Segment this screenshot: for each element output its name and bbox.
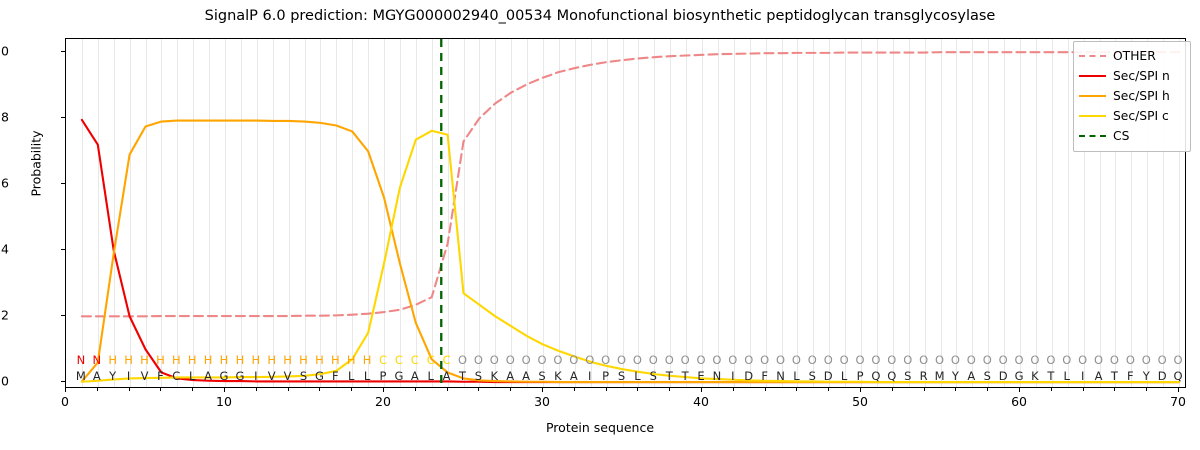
- region-annotation-track: NNHHHHHHHHHHHHHHHHHCCCCCOOOOOOOOOOOOOOOO…: [65, 353, 1186, 369]
- x-tick-mark: [542, 388, 543, 392]
- x-tick-mark-minor: [1146, 388, 1147, 391]
- residue-label: A: [522, 369, 530, 383]
- residue-label: L: [189, 369, 195, 383]
- x-tick-mark-minor: [256, 388, 257, 391]
- region-label: O: [553, 353, 562, 367]
- region-label: O: [1094, 353, 1103, 367]
- residue-label: K: [491, 369, 499, 383]
- x-tick-mark: [383, 388, 384, 392]
- residue-label: Y: [952, 369, 959, 383]
- region-label: O: [887, 353, 896, 367]
- y-tick-label: 0.0: [0, 374, 9, 389]
- residue-label: S: [618, 369, 625, 383]
- legend-label: Sec/SPI h: [1113, 89, 1170, 103]
- residue-label: E: [697, 369, 704, 383]
- residue-label: A: [1095, 369, 1103, 383]
- residue-label: A: [93, 369, 101, 383]
- x-tick-mark-minor: [415, 388, 416, 391]
- residue-label: A: [204, 369, 212, 383]
- x-tick-mark-minor: [192, 388, 193, 391]
- region-label: O: [983, 353, 992, 367]
- residue-label: D: [744, 369, 753, 383]
- x-tick-mark: [65, 388, 66, 392]
- residue-label: K: [554, 369, 562, 383]
- region-label: H: [299, 353, 308, 367]
- x-tick-label: 20: [375, 394, 391, 409]
- x-tick-label: 10: [216, 394, 232, 409]
- region-label: O: [474, 353, 483, 367]
- residue-label: T: [1047, 369, 1054, 383]
- region-label: O: [1174, 353, 1183, 367]
- x-tick-label: 40: [693, 394, 709, 409]
- x-tick-label: 50: [852, 394, 868, 409]
- residue-label: T: [1111, 369, 1118, 383]
- x-tick-mark: [224, 388, 225, 392]
- region-label: O: [506, 353, 515, 367]
- x-tick-mark-minor: [765, 388, 766, 391]
- region-label: O: [1110, 353, 1119, 367]
- residue-label: N: [713, 369, 722, 383]
- region-label: O: [1015, 353, 1024, 367]
- residue-label: S: [475, 369, 482, 383]
- residue-label: S: [650, 369, 657, 383]
- region-label: O: [1142, 353, 1151, 367]
- residue-label: M: [76, 369, 86, 383]
- legend-item[interactable]: Sec/SPI n: [1079, 66, 1185, 86]
- region-label: O: [601, 353, 610, 367]
- residue-label: D: [1158, 369, 1167, 383]
- curve-sec-spi-h: [82, 121, 1179, 383]
- region-label: O: [744, 353, 753, 367]
- residue-label: I: [254, 369, 257, 383]
- region-label: O: [490, 353, 499, 367]
- region-label: O: [840, 353, 849, 367]
- region-label: H: [363, 353, 372, 367]
- residue-label: A: [967, 369, 975, 383]
- legend-swatch-icon: [1079, 95, 1106, 97]
- residue-label: L: [841, 369, 847, 383]
- x-tick-mark-minor: [447, 388, 448, 391]
- y-tick-mark: [61, 183, 65, 184]
- residue-label: L: [793, 369, 799, 383]
- legend-swatch-icon: [1079, 55, 1106, 57]
- y-tick-label: 0.2: [0, 308, 9, 323]
- region-label: O: [808, 353, 817, 367]
- residue-label: Q: [871, 369, 880, 383]
- x-tick-mark-minor: [97, 388, 98, 391]
- residue-label: I: [1081, 369, 1084, 383]
- legend-swatch-icon: [1079, 75, 1106, 77]
- region-label: O: [1078, 353, 1087, 367]
- y-tick-mark: [61, 51, 65, 52]
- residue-label: A: [411, 369, 419, 383]
- x-tick-mark-minor: [987, 388, 988, 391]
- region-label: O: [967, 353, 976, 367]
- residue-label: L: [364, 369, 370, 383]
- residue-label: F: [1127, 369, 1134, 383]
- residue-label: G: [394, 369, 403, 383]
- x-tick-mark-minor: [288, 388, 289, 391]
- y-tick-mark: [61, 249, 65, 250]
- region-label: O: [1158, 353, 1167, 367]
- region-label: H: [140, 353, 149, 367]
- region-label: O: [681, 353, 690, 367]
- x-tick-mark-minor: [733, 388, 734, 391]
- region-label: O: [1046, 353, 1055, 367]
- y-tick-mark: [61, 315, 65, 316]
- x-tick-mark-minor: [129, 388, 130, 391]
- residue-label: Y: [1143, 369, 1150, 383]
- residue-label: G: [1015, 369, 1024, 383]
- y-tick-label: 0.4: [0, 242, 9, 257]
- x-tick-mark-minor: [669, 388, 670, 391]
- region-label: C: [427, 353, 435, 367]
- legend-label: Sec/SPI c: [1113, 109, 1169, 123]
- x-tick-mark-minor: [637, 388, 638, 391]
- y-tick-mark: [61, 117, 65, 118]
- region-label: C: [411, 353, 419, 367]
- residue-label: Q: [887, 369, 896, 383]
- curve-sec-spi-c: [82, 131, 1179, 382]
- x-tick-mark-minor: [1083, 388, 1084, 391]
- x-tick-mark-minor: [892, 388, 893, 391]
- x-tick-mark: [860, 388, 861, 392]
- residue-label: P: [857, 369, 864, 383]
- x-tick-mark-minor: [574, 388, 575, 391]
- region-label: O: [696, 353, 705, 367]
- residue-label: D: [824, 369, 833, 383]
- residue-label: A: [443, 369, 451, 383]
- x-tick-label: 30: [534, 394, 550, 409]
- residue-label: T: [682, 369, 689, 383]
- x-tick-mark-minor: [160, 388, 161, 391]
- legend-item[interactable]: Sec/SPI h: [1079, 86, 1185, 106]
- region-label: H: [204, 353, 213, 367]
- curve-sec-spi-n: [82, 120, 1179, 382]
- residue-label: T: [666, 369, 673, 383]
- region-label: O: [903, 353, 912, 367]
- region-label: H: [315, 353, 324, 367]
- region-label: O: [919, 353, 928, 367]
- region-label: N: [92, 353, 101, 367]
- y-tick-label: 1.0: [0, 44, 9, 59]
- residue-label: V: [141, 369, 149, 383]
- region-label: O: [585, 353, 594, 367]
- residue-label: S: [538, 369, 545, 383]
- region-label: H: [124, 353, 133, 367]
- residue-label: K: [1031, 369, 1039, 383]
- region-label: O: [999, 353, 1008, 367]
- x-tick-mark-minor: [606, 388, 607, 391]
- legend-swatch-icon: [1079, 115, 1106, 117]
- region-label: C: [395, 353, 403, 367]
- protein-sequence-track: MAYIVFCLAGGIVVSGFLLPGALATSKAASKAIPSLSTTE…: [65, 369, 1186, 385]
- residue-label: V: [268, 369, 276, 383]
- residue-label: L: [427, 369, 433, 383]
- residue-label: F: [157, 369, 164, 383]
- residue-label: S: [984, 369, 991, 383]
- region-label: O: [569, 353, 578, 367]
- region-label: O: [951, 353, 960, 367]
- plot-area: [65, 38, 1186, 388]
- residue-label: L: [634, 369, 640, 383]
- region-label: O: [1030, 353, 1039, 367]
- residue-label: M: [935, 369, 945, 383]
- residue-label: T: [459, 369, 466, 383]
- legend-label: OTHER: [1113, 49, 1156, 63]
- x-tick-mark-minor: [796, 388, 797, 391]
- region-label: O: [760, 353, 769, 367]
- region-label: H: [236, 353, 245, 367]
- x-tick-label: 60: [1011, 394, 1027, 409]
- x-tick-mark-minor: [351, 388, 352, 391]
- region-label: O: [633, 353, 642, 367]
- region-label: O: [1126, 353, 1135, 367]
- x-tick-mark-minor: [478, 388, 479, 391]
- residue-label: S: [809, 369, 816, 383]
- x-tick-mark-minor: [1051, 388, 1052, 391]
- residue-label: F: [332, 369, 339, 383]
- region-label: O: [728, 353, 737, 367]
- curve-layer: [66, 39, 1185, 387]
- x-tick-mark-minor: [510, 388, 511, 391]
- x-tick-mark-minor: [828, 388, 829, 391]
- residue-label: V: [284, 369, 292, 383]
- region-label: O: [712, 353, 721, 367]
- region-label: O: [776, 353, 785, 367]
- legend-label: CS: [1113, 129, 1129, 143]
- residue-label: G: [235, 369, 244, 383]
- region-label: H: [347, 353, 356, 367]
- region-label: O: [792, 353, 801, 367]
- residue-label: P: [380, 369, 387, 383]
- region-label: H: [156, 353, 165, 367]
- residue-label: G: [315, 369, 324, 383]
- region-label: O: [1062, 353, 1071, 367]
- region-label: O: [522, 353, 531, 367]
- y-tick-label: 0.6: [0, 176, 9, 191]
- x-tick-mark-minor: [955, 388, 956, 391]
- x-tick-mark-minor: [924, 388, 925, 391]
- residue-label: C: [172, 369, 180, 383]
- residue-label: Y: [109, 369, 116, 383]
- region-label: C: [443, 353, 451, 367]
- region-label: H: [172, 353, 181, 367]
- region-label: O: [665, 353, 674, 367]
- x-tick-mark: [1019, 388, 1020, 392]
- region-label: H: [188, 353, 197, 367]
- residue-label: I: [731, 369, 734, 383]
- x-tick-mark-minor: [319, 388, 320, 391]
- x-tick-label: 70: [1170, 394, 1186, 409]
- y-tick-label: 0.8: [0, 110, 9, 125]
- region-label: O: [856, 353, 865, 367]
- signalp-chart-figure: SignalP 6.0 prediction: MGYG000002940_00…: [0, 0, 1200, 450]
- region-label: H: [331, 353, 340, 367]
- x-tick-mark-minor: [1114, 388, 1115, 391]
- chart-legend[interactable]: OTHERSec/SPI nSec/SPI hSec/SPI cCS: [1073, 41, 1191, 152]
- x-tick-mark: [1178, 388, 1179, 392]
- residue-label: Q: [1174, 369, 1183, 383]
- legend-swatch-icon: [1079, 135, 1106, 137]
- residue-label: S: [904, 369, 911, 383]
- residue-label: A: [506, 369, 514, 383]
- residue-label: L: [1064, 369, 1070, 383]
- x-tick-mark: [701, 388, 702, 392]
- legend-item[interactable]: CS: [1079, 126, 1185, 146]
- x-tick-label: 0: [61, 394, 69, 409]
- region-label: H: [251, 353, 260, 367]
- residue-label: L: [348, 369, 354, 383]
- residue-label: S: [300, 369, 307, 383]
- residue-label: D: [999, 369, 1008, 383]
- residue-label: A: [570, 369, 578, 383]
- residue-label: G: [220, 369, 229, 383]
- region-label: O: [935, 353, 944, 367]
- legend-item[interactable]: Sec/SPI c: [1079, 106, 1185, 126]
- residue-label: I: [127, 369, 130, 383]
- chart-title: SignalP 6.0 prediction: MGYG000002940_00…: [0, 8, 1200, 24]
- region-label: O: [617, 353, 626, 367]
- residue-label: F: [761, 369, 768, 383]
- region-label: O: [649, 353, 658, 367]
- region-label: H: [283, 353, 292, 367]
- region-label: C: [379, 353, 387, 367]
- legend-item[interactable]: OTHER: [1079, 46, 1185, 66]
- region-label: H: [108, 353, 117, 367]
- residue-label: R: [920, 369, 928, 383]
- y-axis-label: Probability: [29, 84, 44, 244]
- residue-label: I: [588, 369, 591, 383]
- region-label: O: [871, 353, 880, 367]
- residue-label: P: [602, 369, 609, 383]
- region-label: H: [267, 353, 276, 367]
- region-label: O: [458, 353, 467, 367]
- region-label: O: [537, 353, 546, 367]
- x-axis-label: Protein sequence: [0, 420, 1200, 435]
- region-label: H: [220, 353, 229, 367]
- region-label: N: [77, 353, 86, 367]
- curve-other: [82, 52, 1179, 316]
- region-label: O: [824, 353, 833, 367]
- legend-label: Sec/SPI n: [1113, 69, 1170, 83]
- residue-label: N: [776, 369, 785, 383]
